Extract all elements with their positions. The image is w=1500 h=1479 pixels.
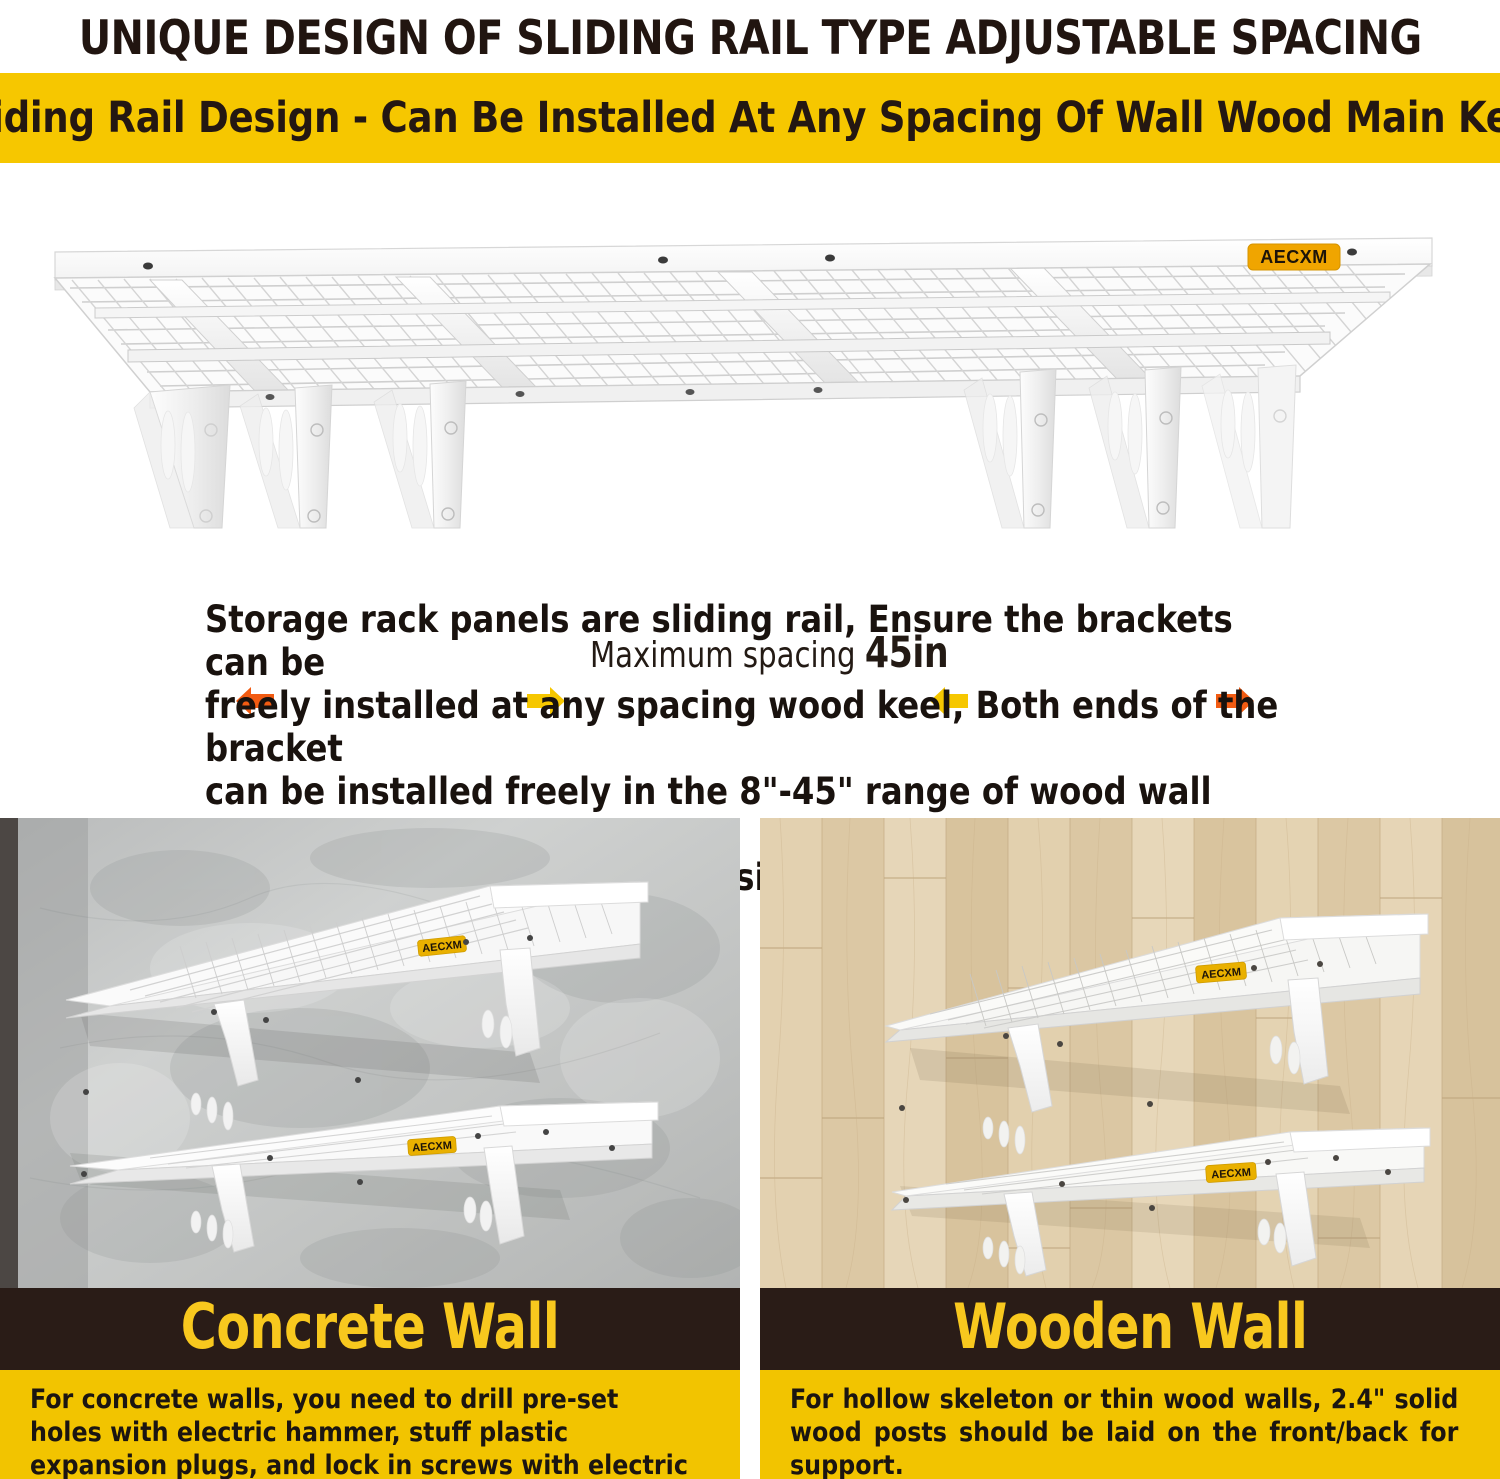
description-line-2: freely installed at any spacing wood kee…	[205, 684, 1282, 770]
wall-type-panels: AECXM	[0, 818, 1500, 1479]
panel-wooden-wall: AECXM	[760, 818, 1500, 1479]
concrete-wall-photo: AECXM	[0, 818, 740, 1288]
concrete-caption-bar: Concrete Wall	[0, 1288, 740, 1370]
concrete-description-band: For concrete walls, you need to drill pr…	[0, 1370, 740, 1479]
hero-illustration: AECXM	[0, 180, 1500, 580]
concrete-caption-text: Concrete Wall	[181, 1296, 559, 1362]
wooden-wall-scene: AECXM	[760, 818, 1500, 1288]
wooden-caption-text: Wooden Wall	[953, 1296, 1307, 1362]
description-line-1: Storage rack panels are sliding rail, En…	[205, 598, 1282, 684]
panel-concrete-wall: AECXM	[0, 818, 740, 1479]
concrete-wall-scene: AECXM	[0, 818, 740, 1288]
page-title-text: UNIQUE DESIGN OF SLIDING RAIL TYPE ADJUS…	[79, 9, 1422, 62]
wooden-description-text: For hollow skeleton or thin wood walls, …	[790, 1383, 1458, 1479]
concrete-description-text: For concrete walls, you need to drill pr…	[30, 1383, 698, 1479]
page-title: UNIQUE DESIGN OF SLIDING RAIL TYPE ADJUS…	[0, 0, 1500, 70]
shelf-wire-deck	[55, 264, 1440, 392]
svg-text:AECXM: AECXM	[1260, 247, 1328, 267]
wooden-wall-photo: AECXM	[760, 818, 1500, 1288]
brand-badge: AECXM	[1248, 244, 1340, 270]
subtitle-banner-text: Sliding Rail Design - Can Be Installed A…	[0, 97, 1500, 140]
shelf-rack-diagram: AECXM	[0, 180, 1500, 580]
wooden-description-band: For hollow skeleton or thin wood walls, …	[760, 1370, 1500, 1479]
wooden-caption-bar: Wooden Wall	[760, 1288, 1500, 1370]
subtitle-banner: Sliding Rail Design - Can Be Installed A…	[0, 73, 1500, 163]
